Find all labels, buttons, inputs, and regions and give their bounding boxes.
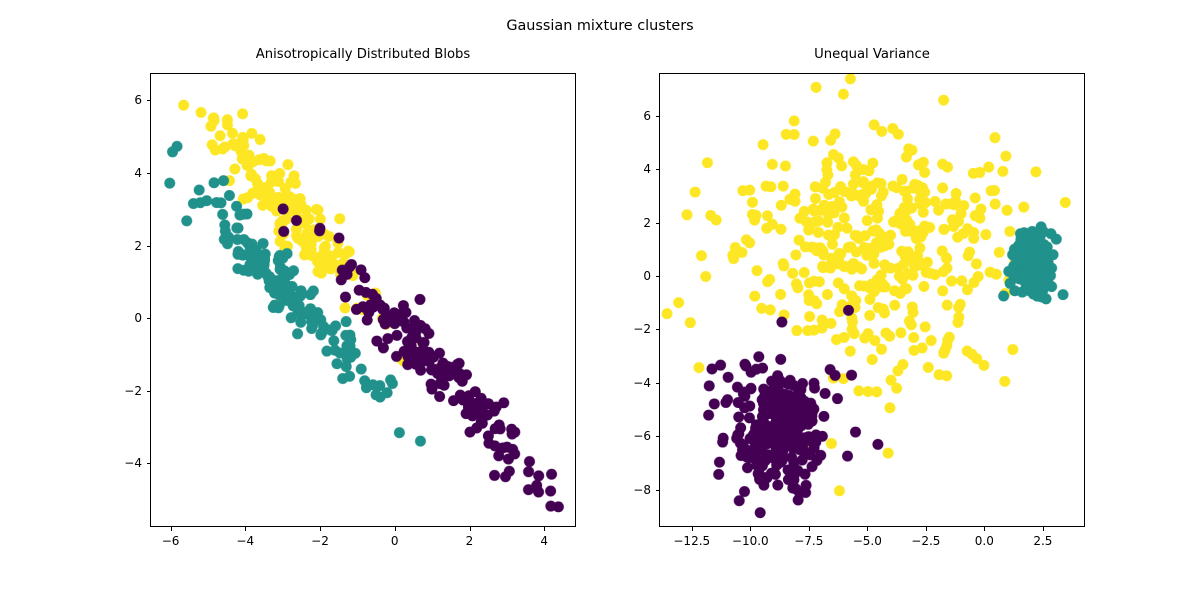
x-tickmark [544, 527, 545, 531]
y-tickmark [656, 490, 660, 491]
y-tickmark [147, 463, 151, 464]
y-tick-label: 4 [100, 167, 142, 179]
figure-suptitle: Gaussian mixture clusters [0, 19, 1200, 33]
x-tickmark [470, 527, 471, 531]
x-tick-label: 4 [540, 535, 548, 547]
x-tick-label: 2 [466, 535, 474, 547]
x-tickmark [245, 527, 246, 531]
figure-canvas: Gaussian mixture clusters Anisotropicall… [0, 0, 1200, 600]
y-tick-label: −4 [100, 457, 142, 469]
x-tick-label: −7.5 [794, 535, 823, 547]
y-tickmark [147, 246, 151, 247]
x-tick-label: −10.0 [732, 535, 769, 547]
y-tick-label: 0 [609, 270, 651, 282]
y-tick-label: −8 [609, 484, 651, 496]
y-tickmark [656, 223, 660, 224]
y-tickmark [656, 383, 660, 384]
x-tickmark [750, 527, 751, 531]
y-tick-label: 4 [609, 163, 651, 175]
x-tickmark [171, 527, 172, 531]
x-tick-label: 0.0 [975, 535, 994, 547]
x-tickmark [1043, 527, 1044, 531]
x-tickmark [320, 527, 321, 531]
y-tickmark [656, 276, 660, 277]
scatter-points-left [151, 74, 575, 526]
x-tickmark [809, 527, 810, 531]
x-tick-label: −6 [162, 535, 180, 547]
y-tick-label: −4 [609, 377, 651, 389]
y-tick-label: 6 [609, 110, 651, 122]
y-tickmark [656, 116, 660, 117]
x-tick-label: 2.5 [1033, 535, 1052, 547]
y-tick-label: −2 [609, 323, 651, 335]
x-tick-label: −2 [311, 535, 329, 547]
y-tickmark [656, 436, 660, 437]
x-tick-label: −4 [236, 535, 254, 547]
y-tick-label: 6 [100, 94, 142, 106]
x-tickmark [867, 527, 868, 531]
y-tick-label: −6 [609, 430, 651, 442]
x-tickmark [984, 527, 985, 531]
y-tickmark [147, 100, 151, 101]
x-tickmark [926, 527, 927, 531]
x-tick-label: 0 [391, 535, 399, 547]
scatter-plot-unequal-variance[interactable] [659, 73, 1085, 527]
x-tick-label: −12.5 [673, 535, 710, 547]
scatter-points-right [660, 74, 1084, 526]
x-tick-label: −5.0 [853, 535, 882, 547]
y-tick-label: 2 [609, 217, 651, 229]
scatter-plot-anisotropic-blobs[interactable] [150, 73, 576, 527]
y-tick-label: 2 [100, 240, 142, 252]
y-tickmark [147, 173, 151, 174]
y-tickmark [656, 169, 660, 170]
y-tickmark [656, 329, 660, 330]
x-tickmark [692, 527, 693, 531]
subplot-title-left: Anisotropically Distributed Blobs [150, 48, 576, 61]
x-tick-label: −2.5 [911, 535, 940, 547]
y-tick-label: −2 [100, 385, 142, 397]
y-tickmark [147, 318, 151, 319]
y-tick-label: 0 [100, 312, 142, 324]
x-tickmark [395, 527, 396, 531]
subplot-title-right: Unequal Variance [659, 48, 1085, 61]
y-tickmark [147, 391, 151, 392]
